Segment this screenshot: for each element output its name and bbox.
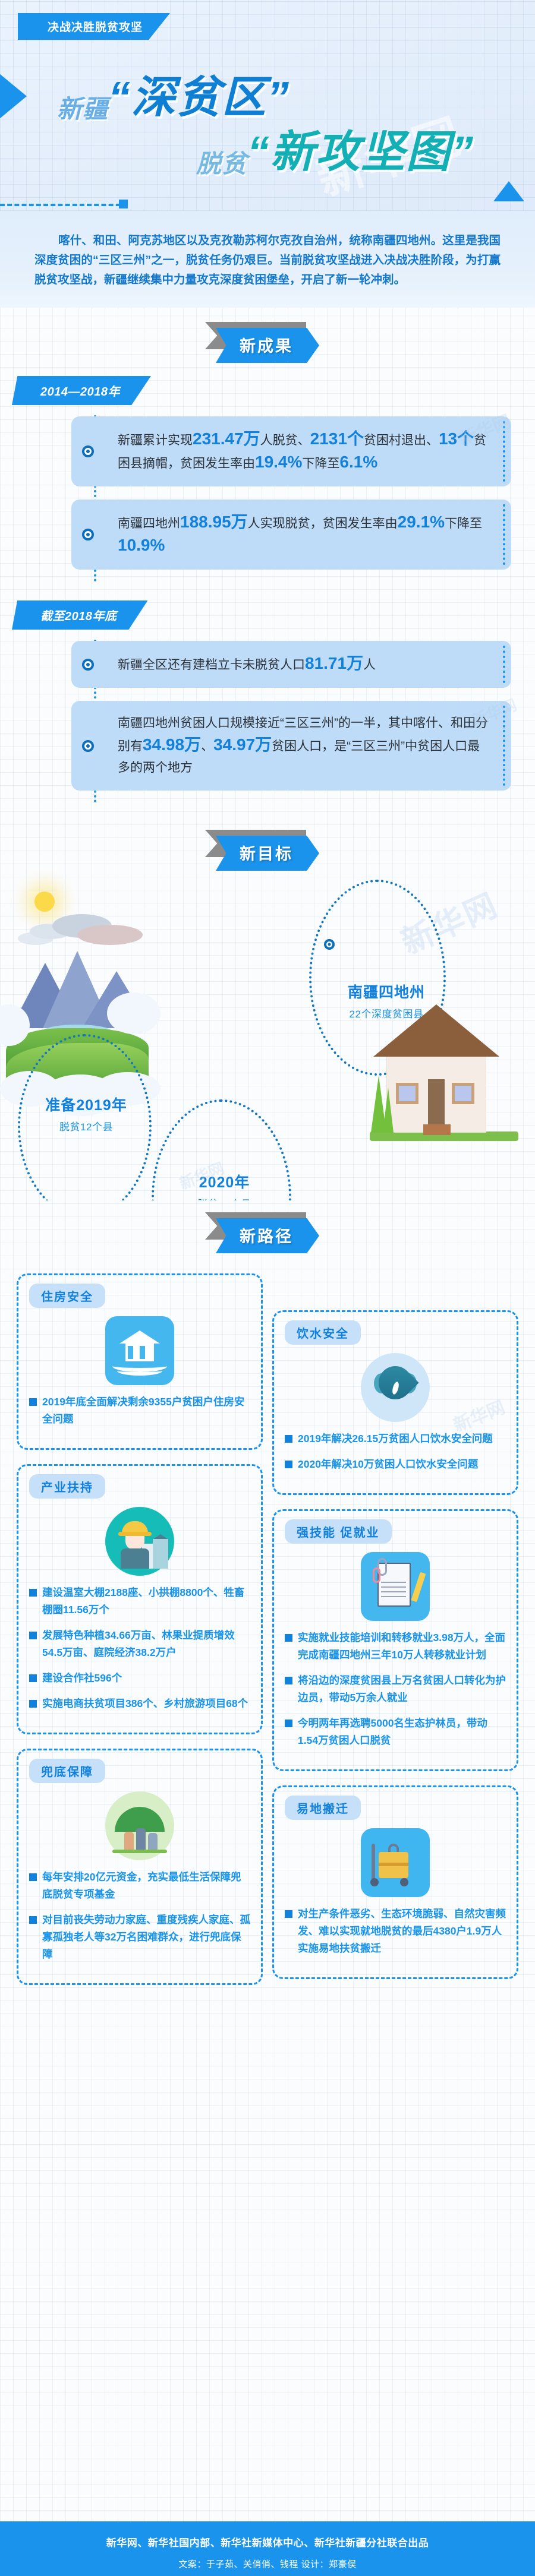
banner-plate: 新路径 — [216, 1218, 319, 1253]
period1-tag: 2014—2018年 — [12, 376, 151, 405]
house-illustration — [370, 993, 518, 1141]
footer: 新华网、新华社国内部、新华社新媒体中心、新华社新疆分社联合出品 文案：于子茹、关… — [0, 2521, 535, 2576]
water-drop-icon — [361, 1353, 430, 1422]
stat-number: 2131个 — [310, 429, 364, 448]
stat-number: 34.98万 — [143, 735, 201, 754]
tree-icon — [383, 1088, 394, 1133]
bullet-square-icon — [29, 1398, 37, 1406]
stat-marker-icon — [82, 445, 94, 457]
stat-text: 新疆全区还有建档立卡未脱贫人口81.71万人 — [118, 653, 490, 676]
cloud-icon — [77, 925, 143, 945]
stat-label: 人脱贫、 — [260, 434, 310, 447]
paths-column-left: 住房安全2019年底全面解决剩余9355户贫困户住房安全问题产业扶持建设温室大棚… — [17, 1273, 263, 1985]
stat-card: 新疆全区还有建档立卡未脱贫人口81.71万人 — [71, 641, 511, 688]
ground-strip — [112, 1850, 167, 1853]
stat-card: 新疆累计实现231.47万人脱贫、2131个贫困村退出、13个贫困县摘帽，贫困发… — [71, 416, 511, 486]
stat-right-dotted-rule — [503, 646, 505, 683]
bullet-item: 将沿边的深度贫困县上万名贫困人口转化为护边员，带动5万余人就业 — [285, 1672, 506, 1706]
path-card: 产业扶持建设温室大棚2188座、小拱棚8800个、牲畜棚圈11.56万个发展特色… — [17, 1464, 263, 1734]
paths-banner-row: 新路径 — [0, 1212, 535, 1273]
period1-tag-row: 2014—2018年 — [0, 372, 535, 409]
path-card-bullets: 对生产条件恶劣、生态环境脆弱、自然灾害频发、难以实现就地脱贫的最后4380户1.… — [274, 1905, 517, 1957]
paper-line — [381, 1582, 406, 1583]
footer-credits: 文案：于子茹、关俏俏、钱程 设计：郑豪俣 — [0, 2558, 535, 2570]
stat-number: 29.1% — [398, 513, 445, 531]
stat-label: 新疆全区还有建档立卡未脱贫人口 — [118, 658, 305, 672]
stat-card: 南疆四地州贫困人口规模接近“三区三州”的一半，其中喀什、和田分别有34.98万、… — [71, 701, 511, 791]
bullet-text: 建设温室大棚2188座、小拱棚8800个、牲畜棚圈11.56万个 — [42, 1584, 250, 1619]
stat-label: 人实现脱贫，贫困发生率由 — [248, 517, 398, 530]
hero-title-line-1-big: “深贫区” — [108, 72, 290, 122]
stat-label: 新疆累计实现 — [118, 434, 193, 447]
luggage-cart-icon — [361, 1828, 430, 1897]
goals-banner-label: 新目标 — [240, 845, 293, 863]
intro-paragraph: 喀什、和田、阿克苏地区以及克孜勒苏柯尔克孜自治州，统称南疆四地州。这里是我国深度… — [34, 231, 501, 290]
person-shape — [136, 1828, 146, 1850]
cloud-icon — [107, 993, 160, 1034]
cart-pole — [372, 1844, 375, 1880]
house-water-icon — [105, 1316, 174, 1385]
paperclip-icon — [373, 1567, 380, 1583]
stat-label: 人 — [363, 658, 376, 672]
path-card-bullets: 2019年底全面解决剩余9355户贫困户住房安全问题 — [18, 1393, 261, 1428]
bullet-square-icon — [29, 1674, 37, 1682]
roof-shape — [119, 1330, 160, 1344]
bullet-square-icon — [29, 1589, 37, 1597]
bullet-item: 实施就业技能培训和转移就业3.98万人，全面完成南疆四地州三年10万人转移就业计… — [285, 1629, 506, 1664]
window-slot — [140, 1346, 145, 1359]
paths-columns: 住房安全2019年底全面解决剩余9355户贫困户住房安全问题产业扶持建设温室大棚… — [0, 1273, 535, 1985]
stat-right-dotted-rule — [503, 504, 505, 565]
bullet-text: 建设合作社596个 — [42, 1670, 122, 1687]
results-banner-label: 新成果 — [240, 337, 293, 355]
path-card-bullets: 每年安排20亿元资金，充实最低生活保障兜底脱贫专项基金对目前丧失劳动力家庭、重度… — [18, 1869, 261, 1963]
bullet-square-icon — [285, 1677, 292, 1684]
bullet-text: 2019年底全面解决剩余9355户贫困户住房安全问题 — [42, 1393, 250, 1428]
paths-section: 新路径 住房安全2019年底全面解决剩余9355户贫困户住房安全问题产业扶持建设… — [0, 1200, 535, 2009]
path-card-title: 易地搬迁 — [285, 1796, 361, 1820]
stat-number: 19.4% — [255, 453, 302, 471]
stat-marker-icon — [82, 740, 94, 752]
bullet-square-icon — [29, 1873, 37, 1881]
bullet-item: 今明两年再选聘5000名生态护林员，带动1.54万贫困人口脱贫 — [285, 1715, 506, 1749]
path-card-title: 强技能 促就业 — [285, 1519, 392, 1544]
bullet-square-icon — [29, 1916, 37, 1924]
hero-arrow-down-icon — [493, 181, 524, 201]
house-door-icon — [428, 1079, 445, 1126]
bullet-text: 2020年解决10万贫困人口饮水安全问题 — [298, 1456, 478, 1473]
path-card-title: 饮水安全 — [285, 1320, 361, 1345]
stat-marker-icon — [82, 529, 94, 541]
goals-section: 新目标 新华网 南疆四地州 22个深度贫困县 准备2019年 脱贫12个县 — [0, 808, 535, 1200]
stat-card: 南疆四地州188.95万人实现脱贫，贫困发生率由29.1%下降至10.9% — [71, 500, 511, 570]
path-card: 强技能 促就业实施就业技能培训和转移就业3.98万人，全面完成南疆四地州三年10… — [272, 1509, 518, 1771]
bullet-item: 每年安排20亿元资金，充实最低生活保障兜底脱贫专项基金 — [29, 1869, 250, 1903]
goal-label-2: 准备2019年 脱贫12个县 — [33, 1093, 140, 1133]
stat-number: 6.1% — [339, 453, 377, 471]
period2-tag-label: 截至2018年底 — [40, 610, 117, 623]
hard-hat-shape — [122, 1521, 148, 1533]
intro-section: 喀什、和田、阿克苏地区以及克孜勒苏柯尔克孜自治州，统称南疆四地州。这里是我国深度… — [0, 211, 535, 308]
stat-number: 10.9% — [118, 536, 165, 554]
path-card-bullets: 建设温室大棚2188座、小拱棚8800个、牲畜棚圈11.56万个发展特色种植34… — [18, 1584, 261, 1712]
paths-column-right: 饮水安全2019年解决26.15万贫困人口饮水安全问题2020年解决10万贫困人… — [272, 1273, 518, 1979]
umbrella-people-icon — [105, 1791, 174, 1860]
path-card-bullets: 2019年解决26.15万贫困人口饮水安全问题2020年解决10万贫困人口饮水安… — [274, 1430, 517, 1473]
house-window-icon — [452, 1083, 474, 1104]
bullet-text: 2019年解决26.15万贫困人口饮水安全问题 — [298, 1430, 493, 1447]
stat-label: 贫困村退出、 — [364, 434, 439, 447]
intro-square-marker-icon — [119, 200, 128, 208]
path-card: 饮水安全2019年解决26.15万贫困人口饮水安全问题2020年解决10万贫困人… — [272, 1310, 518, 1495]
goal-label-3: 2020年 脱贫10个县 — [172, 1171, 276, 1200]
path-card-title: 兜底保障 — [29, 1759, 105, 1783]
stat-number: 13个 — [439, 429, 474, 448]
wave-shape — [117, 1366, 162, 1376]
building-shape — [153, 1539, 168, 1569]
path-card-bullets: 实施就业技能培训和转移就业3.98万人，全面完成南疆四地州三年10万人转移就业计… — [274, 1629, 517, 1749]
paths-banner: 新路径 — [216, 1218, 319, 1253]
results-banner: 新成果 — [216, 328, 319, 363]
sun-icon — [34, 892, 55, 912]
bullet-square-icon — [285, 1435, 292, 1443]
bullet-square-icon — [285, 1720, 292, 1727]
bullet-item: 2019年底全面解决剩余9355户贫困户住房安全问题 — [29, 1393, 250, 1428]
bullet-square-icon — [285, 1634, 292, 1642]
stat-label: 下降至 — [445, 517, 482, 530]
results-banner-row: 新成果 — [0, 308, 535, 372]
suitcase-band — [379, 1863, 408, 1866]
goals-banner: 新目标 — [216, 836, 319, 871]
path-card: 住房安全2019年底全面解决剩余9355户贫困户住房安全问题 — [17, 1273, 263, 1450]
bullet-item: 发展特色种植34.66万亩、林果业提质增效54.5万亩、庭院经济38.2万户 — [29, 1627, 250, 1661]
person-shape — [148, 1833, 158, 1850]
goal-subtitle: 脱贫10个县 — [172, 1196, 276, 1200]
bullet-text: 今明两年再选聘5000名生态护林员，带动1.54万贫困人口脱贫 — [298, 1715, 506, 1749]
wheel-shape — [370, 1878, 379, 1886]
bullet-item: 实施电商扶贫项目386个、乡村旅游项目68个 — [29, 1695, 250, 1712]
window-slot — [128, 1346, 133, 1359]
bullet-text: 实施电商扶贫项目386个、乡村旅游项目68个 — [42, 1695, 248, 1712]
bullet-item: 建设温室大棚2188座、小拱棚8800个、牲畜棚圈11.56万个 — [29, 1584, 250, 1619]
bullet-square-icon — [29, 1700, 37, 1708]
period2-tag-row: 截至2018年底 — [0, 597, 535, 634]
hero-arrow-left-icon — [0, 59, 27, 133]
hero-banner: 决战决胜脱贫攻坚 新华网 新疆“深贫区” 脱贫“新攻坚图” — [0, 0, 535, 211]
paper-line — [381, 1596, 406, 1597]
house-window-icon — [396, 1083, 418, 1104]
path-card: 兜底保障每年安排20亿元资金，充实最低生活保障兜底脱贫专项基金对目前丧失劳动力家… — [17, 1749, 263, 1985]
bullet-square-icon — [29, 1632, 37, 1639]
document-pen-icon — [361, 1552, 430, 1621]
wheel-shape — [400, 1878, 408, 1886]
goal-subtitle: 脱贫12个县 — [33, 1118, 140, 1133]
paper-line — [381, 1586, 406, 1588]
banner-plate: 新成果 — [216, 328, 319, 363]
bullet-item: 对目前丧失劳动力家庭、重度残疾人家庭、孤寡孤独老人等32万名困难群众，进行兜底保… — [29, 1911, 250, 1963]
bullet-text: 将沿边的深度贫困县上万名贫困人口转化为护边员，带动5万余人就业 — [298, 1672, 506, 1706]
hard-hat-brim — [118, 1532, 152, 1536]
path-card: 易地搬迁对生产条件恶劣、生态环境脆弱、自然灾害频发、难以实现就地脱贫的最后438… — [272, 1785, 518, 1979]
stat-right-dotted-rule — [503, 421, 505, 482]
bullet-text: 对目前丧失劳动力家庭、重度残疾人家庭、孤寡孤独老人等32万名困难群众，进行兜底保… — [42, 1911, 250, 1963]
hero-title-line-1: 新疆“深贫区” — [57, 62, 290, 125]
bullet-item: 建设合作社596个 — [29, 1670, 250, 1687]
period2-tag: 截至2018年底 — [12, 600, 148, 630]
goal-marker-icon — [324, 939, 335, 950]
stat-label: 、 — [201, 739, 213, 753]
stat-marker-icon — [82, 659, 94, 671]
banner-plate: 新目标 — [216, 836, 319, 871]
period1-tag-label: 2014—2018年 — [40, 385, 120, 399]
path-card-title: 住房安全 — [29, 1284, 105, 1308]
bullet-text: 对生产条件恶劣、生态环境脆弱、自然灾害频发、难以实现就地脱贫的最后4380户1.… — [298, 1905, 506, 1957]
paper-line — [381, 1591, 406, 1592]
hero-title-line-2-big: “新攻坚图” — [247, 127, 474, 176]
pencil-icon — [411, 1572, 426, 1603]
stat-text: 南疆四地州贫困人口规模接近“三区三州”的一半，其中喀什、和田分别有34.98万、… — [118, 713, 490, 779]
hero-title-line-2: 脱贫“新攻坚图” — [196, 116, 474, 180]
path-card-title: 产业扶持 — [29, 1474, 105, 1499]
bullet-item: 2020年解决10万贫困人口饮水安全问题 — [285, 1456, 506, 1473]
stat-number: 81.71万 — [305, 654, 363, 672]
stat-number: 231.47万 — [193, 429, 260, 448]
period1-stats: 新疆累计实现231.47万人脱贫、2131个贫困村退出、13个贫困县摘帽，贫困发… — [0, 409, 535, 587]
paths-banner-label: 新路径 — [240, 1228, 293, 1246]
house-steps — [423, 1124, 451, 1135]
hero-title-line-1-small: 新疆 — [57, 95, 108, 123]
bullet-text: 每年安排20亿元资金，充实最低生活保障兜底脱贫专项基金 — [42, 1869, 250, 1903]
period2-stats: 新疆全区还有建档立卡未脱贫人口81.71万人南疆四地州贫困人口规模接近“三区三州… — [0, 634, 535, 808]
worker-torso — [121, 1548, 149, 1569]
bullet-square-icon — [285, 1461, 292, 1468]
stat-number: 188.95万 — [180, 513, 248, 531]
goals-banner-row: 新目标 — [0, 808, 535, 871]
bullet-square-icon — [285, 1910, 292, 1918]
stat-text: 新疆累计实现231.47万人脱贫、2131个贫困村退出、13个贫困县摘帽，贫困发… — [118, 428, 490, 475]
hero-title-line-2-small: 脱贫 — [196, 150, 247, 178]
stat-label: 南疆四地州 — [118, 517, 180, 530]
stat-right-dotted-rule — [503, 706, 505, 786]
house-roof — [373, 1004, 499, 1057]
construction-worker-icon — [105, 1507, 174, 1576]
footer-publishers: 新华网、新华社国内部、新华社新媒体中心、新华社新疆分社联合出品 — [0, 2534, 535, 2549]
bullet-item: 2019年解决26.15万贫困人口饮水安全问题 — [285, 1430, 506, 1447]
goal-title: 准备2019年 — [33, 1093, 140, 1115]
goal-title: 2020年 — [172, 1171, 276, 1192]
person-shape — [124, 1832, 134, 1850]
bullet-item: 对生产条件恶劣、生态环境脆弱、自然灾害频发、难以实现就地脱贫的最后4380户1.… — [285, 1905, 506, 1957]
kicker-label: 决战决胜脱贫攻坚 — [18, 13, 170, 40]
intro-dashed-rule — [0, 204, 128, 206]
stat-text: 南疆四地州188.95万人实现脱贫，贫困发生率由29.1%下降至10.9% — [118, 511, 490, 558]
bullet-text: 发展特色种植34.66万亩、林果业提质增效54.5万亩、庭院经济38.2万户 — [42, 1627, 250, 1661]
bullet-text: 实施就业技能培训和转移就业3.98万人，全面完成南疆四地州三年10万人转移就业计… — [298, 1629, 506, 1664]
stat-label: 下降至 — [302, 457, 339, 470]
stat-number: 34.97万 — [213, 735, 272, 754]
